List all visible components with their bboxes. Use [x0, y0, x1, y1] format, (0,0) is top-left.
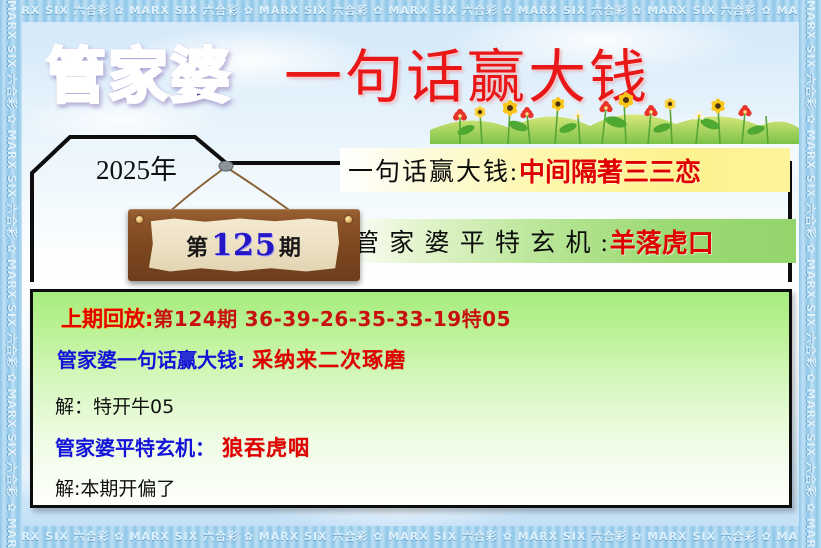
band-green-value: 羊落虎口	[610, 223, 714, 260]
explain-text-1: 解：特开牛05	[55, 392, 174, 419]
border-bottom: MARX SIX 六合彩 ✿ MARX SIX 六合彩 ✿ MARX SIX 六…	[0, 526, 821, 548]
xuanji-label: 管家婆平特玄机：	[55, 432, 215, 461]
border-right-text: MARX SIX 六合彩 ✿ MARX SIX 六合彩 ✿ MARX SIX 六…	[799, 0, 821, 548]
saying-value: 采纳来二次琢磨	[252, 344, 406, 374]
replay-row: 上期回放: 第124期 36-39-26-35-33-19特05	[61, 303, 511, 333]
year-label: 2025年	[96, 148, 177, 187]
border-left-text: MARX SIX 六合彩 ✿ MARX SIX 六合彩 ✿ MARX SIX 六…	[0, 0, 22, 548]
xuanji-value: 狼吞虎咽	[222, 432, 310, 462]
issue-suffix: 期	[279, 235, 302, 261]
band-yellow-label: 一句话赢大钱:	[348, 152, 519, 188]
explain-row-2: 解:本期开偏了	[55, 474, 175, 501]
issue-number: 125	[209, 228, 279, 263]
period-frame: 2025年 第125期 一句话赢大钱: 中间隔著三三恋 管 家 婆 平 特 玄 …	[30, 131, 792, 282]
replay-numbers: 36-39-26-35-33-19特05	[245, 303, 511, 332]
border-top: MARX SIX 六合彩 ✿ MARX SIX 六合彩 ✿ MARX SIX 六…	[0, 0, 821, 22]
sign-paper: 第125期	[147, 218, 341, 272]
wooden-sign: 第125期	[128, 209, 360, 281]
replay-label: 上期回放:	[61, 303, 153, 333]
replay-issue: 第124期	[153, 303, 237, 332]
band-green-label: 管 家 婆 平 特 玄 机 :	[354, 223, 610, 259]
border-right: MARX SIX 六合彩 ✿ MARX SIX 六合彩 ✿ MARX SIX 六…	[799, 0, 821, 548]
issue-prefix: 第	[186, 235, 209, 261]
saying-row: 管家婆一句话赢大钱: 采纳来二次琢磨	[57, 344, 406, 374]
content-panel: 上期回放: 第124期 36-39-26-35-33-19特05 管家婆一句话赢…	[30, 289, 792, 508]
poster-root: 管家婆 一句话赢大钱 2025年 第125期 一句话赢大钱: 中间隔著三三恋 管…	[0, 0, 821, 548]
band-green: 管 家 婆 平 特 玄 机 : 羊落虎口	[340, 219, 796, 263]
saying-label: 管家婆一句话赢大钱:	[57, 344, 245, 373]
border-bottom-text: MARX SIX 六合彩 ✿ MARX SIX 六合彩 ✿ MARX SIX 六…	[0, 526, 821, 548]
explain-text-2: 解:本期开偏了	[55, 474, 175, 501]
band-yellow: 一句话赢大钱: 中间隔著三三恋	[340, 148, 790, 192]
border-left: MARX SIX 六合彩 ✿ MARX SIX 六合彩 ✿ MARX SIX 六…	[0, 0, 22, 548]
xuanji-row: 管家婆平特玄机： 狼吞虎咽	[55, 432, 310, 462]
brand-title: 管家婆	[46, 28, 232, 115]
border-top-text: MARX SIX 六合彩 ✿ MARX SIX 六合彩 ✿ MARX SIX 六…	[0, 0, 821, 22]
issue-number-text: 第125期	[186, 228, 302, 263]
band-yellow-value: 中间隔著三三恋	[519, 152, 701, 189]
explain-row-1: 解：特开牛05	[55, 392, 174, 419]
